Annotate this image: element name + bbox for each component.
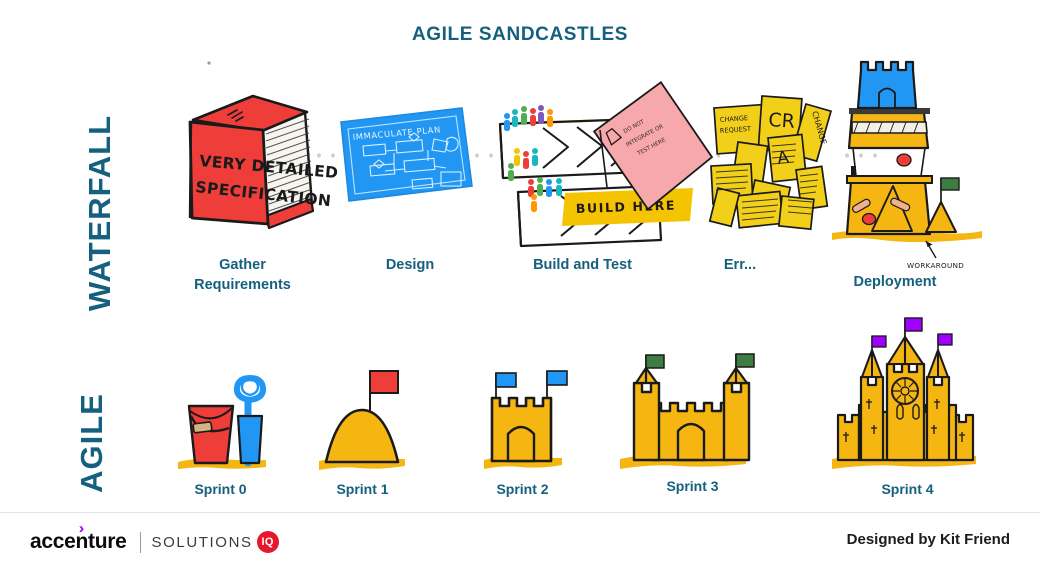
sticky-cr-label: CR [768, 109, 796, 133]
solutionsiq-wordmark: SOLUTIONS [152, 534, 253, 551]
accenture-solutionsiq-logo: accenture › SOLUTIONS IQ [30, 528, 279, 556]
sticky-notes-pile-icon: CHANGE REQUEST CR A CHANGE [710, 96, 831, 229]
designer-credit: Designed by Kit Friend [847, 531, 1010, 548]
iq-badge: IQ [257, 531, 279, 553]
precarious-sandcastle-icon: WORKAROUND [832, 62, 982, 270]
illustration-layer: VERY DETAILED SPECIFICATION [0, 0, 1040, 585]
sprint-caption-1: Sprint 1 [310, 481, 415, 497]
footer-divider [0, 512, 1040, 513]
small-sandcastle-icon [484, 371, 567, 469]
stage-caption-gather-requirements: Gather Requirements [165, 255, 320, 295]
stage-caption-build-and-test: Build and Test [505, 255, 660, 275]
accenture-wordmark: accenture › [30, 530, 127, 554]
conveyor-belt-icon: BUILD HERE [500, 78, 719, 246]
sprint-caption-2: Sprint 2 [470, 481, 575, 497]
stage-caption-deployment: Deployment [820, 272, 970, 292]
two-tower-sandcastle-icon [620, 354, 754, 469]
sprint-caption-0: Sprint 0 [168, 481, 273, 497]
blueprint-icon: IMMACULATE PLAN [341, 108, 472, 201]
logo-divider [140, 532, 141, 553]
accenture-caret-icon: › [78, 521, 83, 536]
stage-caption-err: Err... [690, 255, 790, 275]
spec-book-icon: VERY DETAILED SPECIFICATION [190, 61, 339, 228]
stage-caption-design: Design [340, 255, 480, 275]
bucket-and-spade-icon [178, 378, 266, 469]
sprint-caption-4: Sprint 4 [855, 481, 960, 497]
infographic-canvas: AGILE SANDCASTLES WATERFALL AGILE [0, 0, 1040, 585]
sand-mound-flag-icon [319, 371, 405, 470]
sprint-caption-3: Sprint 3 [640, 478, 745, 494]
grand-sandcastle-icon [832, 318, 976, 469]
workaround-label: WORKAROUND [907, 261, 964, 270]
